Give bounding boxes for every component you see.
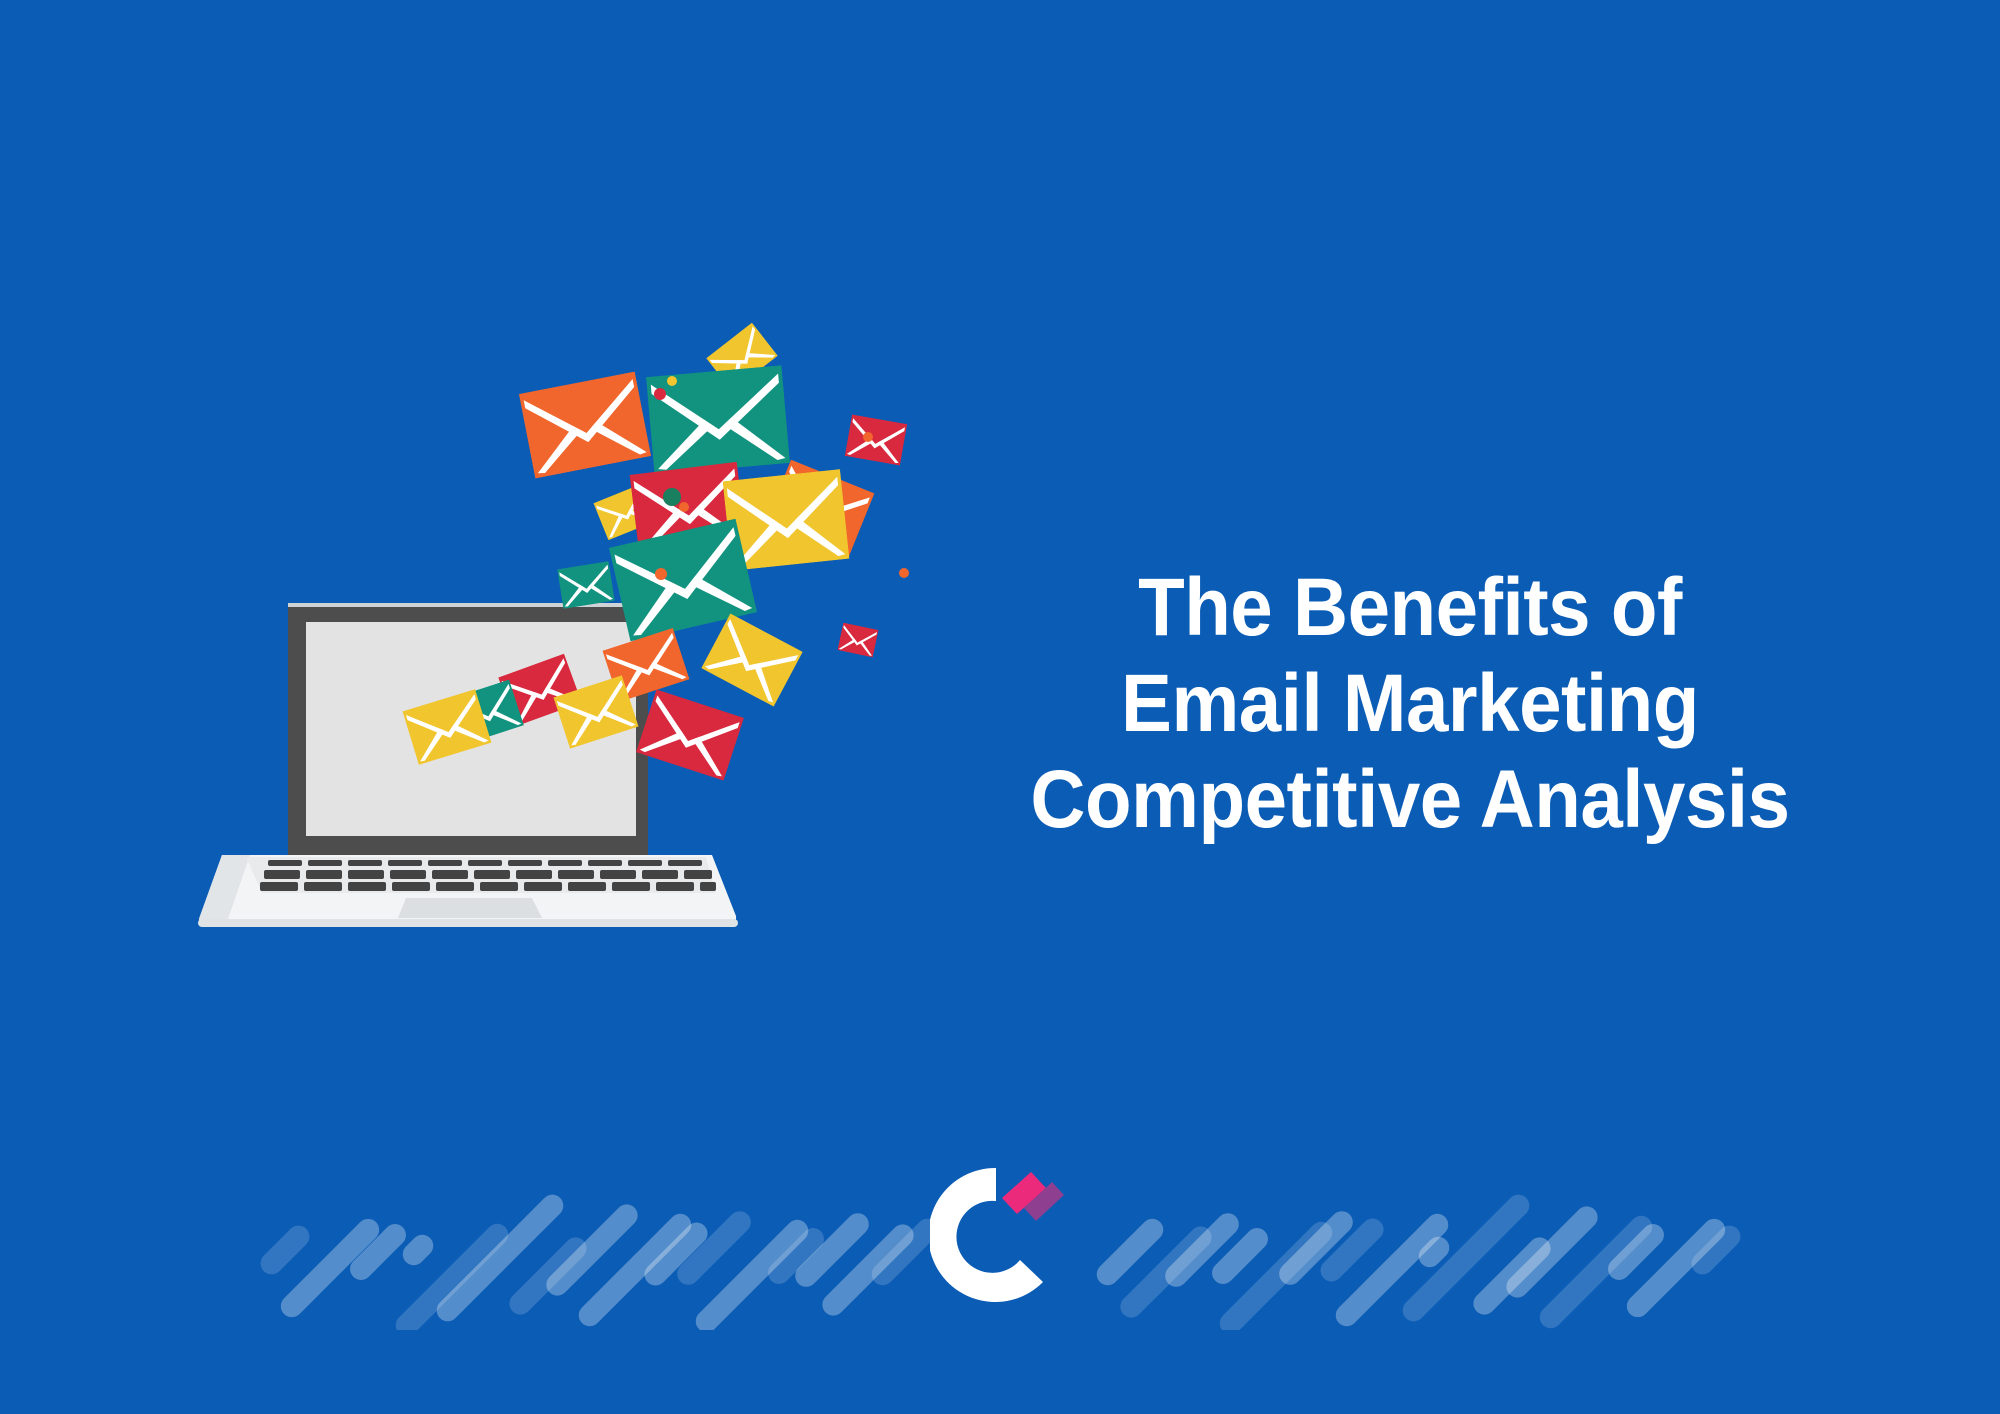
title-line-2: Email Marketing bbox=[936, 656, 1885, 752]
stripe bbox=[574, 1209, 696, 1330]
confetti-dot bbox=[667, 376, 677, 386]
laptop-base-lip bbox=[198, 919, 738, 927]
confetti-dot bbox=[654, 388, 666, 400]
title-line-1: The Benefits of bbox=[936, 560, 1885, 656]
confetti-dot bbox=[863, 432, 873, 442]
envelope bbox=[557, 561, 615, 609]
confetti-dot bbox=[655, 568, 667, 580]
title-line-3: Competitive Analysis bbox=[936, 752, 1885, 848]
envelope bbox=[845, 414, 907, 465]
envelope bbox=[636, 689, 744, 780]
confetti-dot bbox=[899, 568, 909, 578]
c-mark-logo bbox=[930, 1160, 1070, 1310]
laptop-keys bbox=[260, 860, 716, 891]
stripe bbox=[256, 1221, 314, 1279]
laptop-trackpad bbox=[398, 898, 542, 918]
stripe bbox=[432, 1190, 568, 1326]
confetti-dot bbox=[663, 488, 681, 506]
envelope bbox=[701, 613, 803, 706]
page-title: The Benefits of Email Marketing Competit… bbox=[936, 560, 1885, 848]
envelope bbox=[519, 372, 651, 479]
poster-canvas: The Benefits of Email Marketing Competit… bbox=[0, 0, 2000, 1414]
confetti-dot bbox=[679, 502, 689, 512]
envelope bbox=[837, 623, 878, 658]
